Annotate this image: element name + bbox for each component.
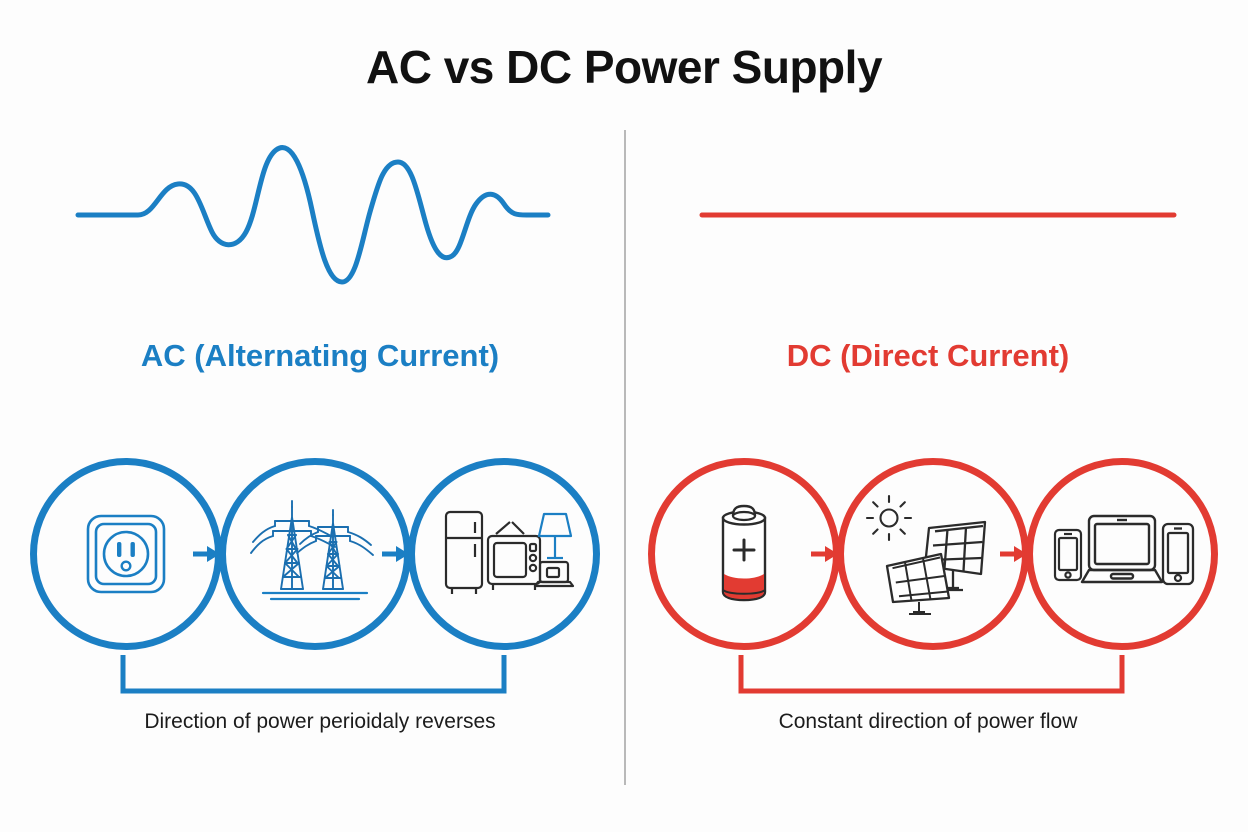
page-title: AC vs DC Power Supply xyxy=(0,40,1248,94)
dc-arrow-2-icon xyxy=(999,543,1029,565)
panel-divider xyxy=(624,130,626,785)
dc-node-electronic-devices[interactable] xyxy=(1026,458,1218,650)
dc-arrow-1-icon xyxy=(810,543,840,565)
ac-heading: AC (Alternating Current) xyxy=(20,338,620,374)
ac-wave-path xyxy=(78,148,548,282)
dc-heading: DC (Direct Current) xyxy=(628,338,1228,374)
ac-arrow-2-icon xyxy=(381,543,411,565)
infographic-canvas: AC vs DC Power Supply AC (Alternating Cu… xyxy=(0,0,1248,832)
ac-waveform xyxy=(60,100,570,300)
ac-node-home-appliances[interactable] xyxy=(408,458,600,650)
dc-flow-row xyxy=(648,458,1218,658)
electronic-devices-icon xyxy=(1049,504,1195,604)
home-appliances-icon xyxy=(434,494,574,614)
battery-icon xyxy=(689,494,799,614)
ac-flow-row xyxy=(30,458,600,658)
solar-panel-icon xyxy=(863,492,1003,617)
dc-caption: Constant direction of power flow xyxy=(628,710,1228,734)
transmission-tower-icon xyxy=(245,489,385,619)
dc-flow-bracket xyxy=(648,655,1218,697)
dc-waveform xyxy=(680,100,1200,300)
ac-arrow-1-icon xyxy=(192,543,222,565)
ac-caption: Direction of power perioidaly reverses xyxy=(20,710,620,734)
power-outlet-icon xyxy=(66,494,186,614)
ac-flow-bracket xyxy=(30,655,600,697)
